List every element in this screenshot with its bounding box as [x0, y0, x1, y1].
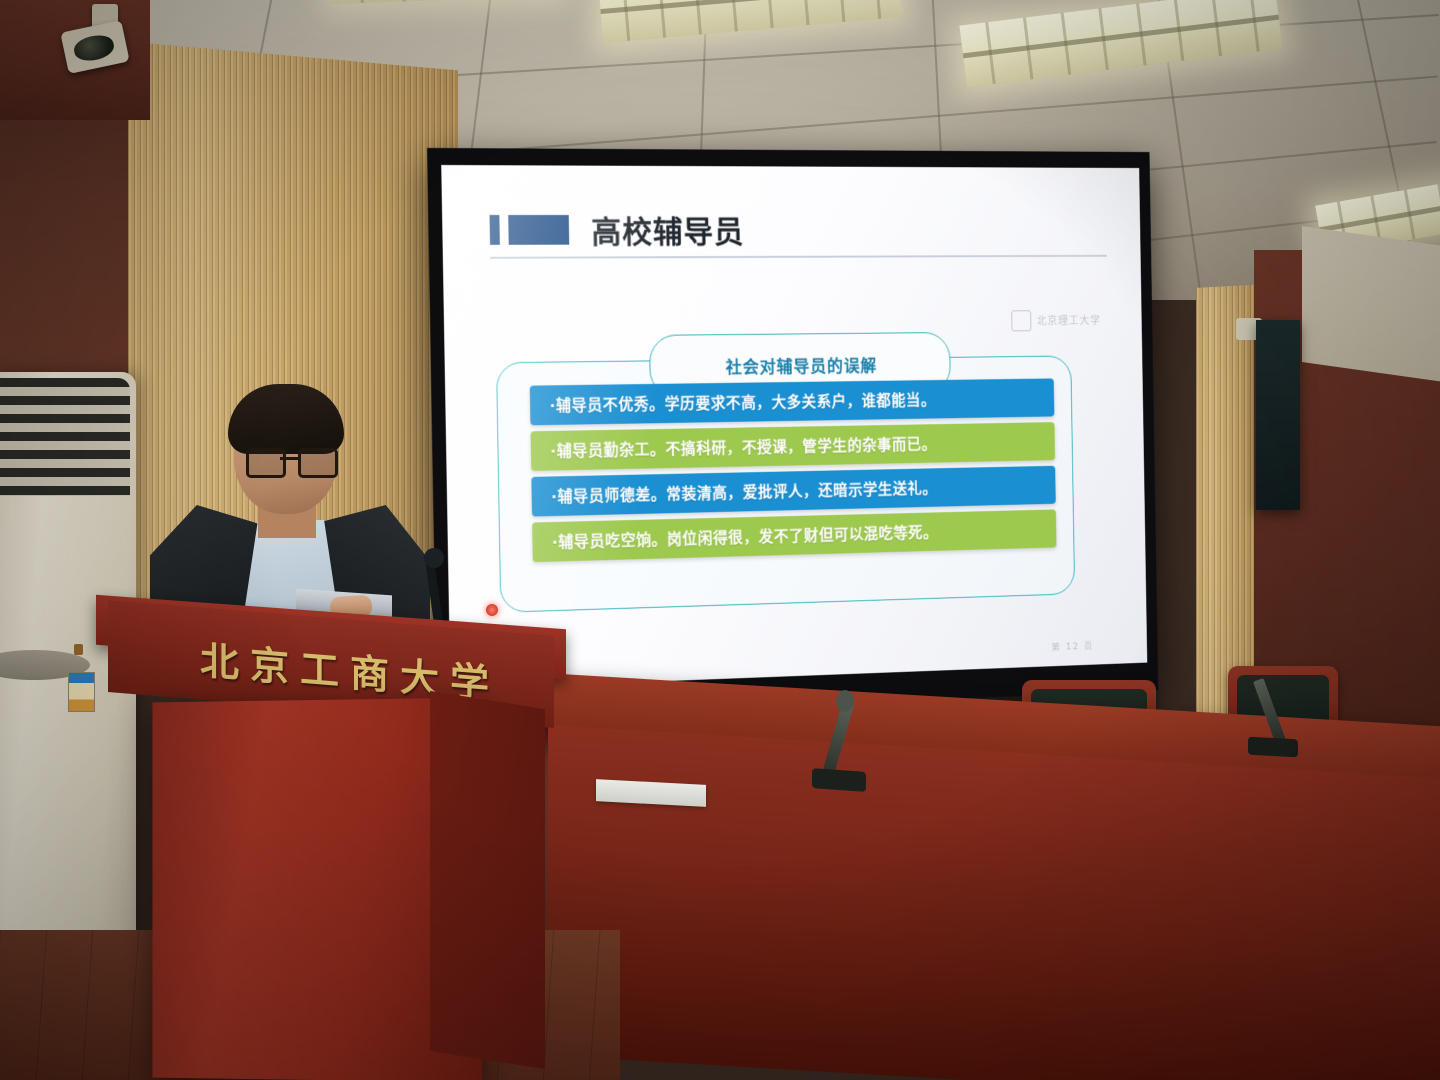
university-logo: 北京理工大学 — [1011, 310, 1101, 332]
lecture-hall-photo: 高校辅导员 北京理工大学 社会对辅导员的误解 ·辅导员不优秀。学历要求不高，大多… — [0, 0, 1440, 1080]
footer-right-text: 第 12 页 — [1052, 639, 1094, 653]
energy-label-sticker — [68, 672, 95, 712]
seal-icon — [1011, 310, 1031, 331]
bullet-bar: ·辅导员勤杂工。不搞科研，不授课，管学生的杂事而已。 — [531, 422, 1056, 471]
beige-wall-right — [1302, 226, 1440, 382]
podium-side-panel — [430, 691, 545, 1069]
bullet-text: ·辅导员师德差。常装清高，爱批评人，还暗示学生送礼。 — [551, 477, 937, 507]
podium-indicator-light — [486, 604, 498, 616]
bullet-bar: ·辅导员师德差。常装清高，爱批评人，还暗示学生送礼。 — [531, 466, 1055, 517]
desk-microphone-base — [1248, 737, 1298, 758]
slide-header-rule — [490, 255, 1107, 259]
accent-bar-small — [490, 214, 500, 244]
presentation-slide: 高校辅导员 北京理工大学 社会对辅导员的误解 ·辅导员不优秀。学历要求不高，大多… — [441, 165, 1147, 689]
slide-title: 高校辅导员 — [591, 207, 745, 251]
bullet-bar-list: ·辅导员不优秀。学历要求不高，大多关系户，谁都能当。 ·辅导员勤杂工。不搞科研，… — [530, 378, 1057, 568]
caption-text: 社会对辅导员的误解 — [725, 351, 877, 377]
bullet-text: ·辅导员勤杂工。不搞科研，不授课，管学生的杂事而已。 — [550, 433, 936, 462]
desk-microphone-base — [812, 768, 866, 792]
podium-microphone-head — [424, 548, 444, 568]
logo-text: 北京理工大学 — [1036, 313, 1101, 329]
bullet-bar: ·辅导员不优秀。学历要求不高，大多关系户，谁都能当。 — [530, 378, 1055, 425]
bullet-text: ·辅导员吃空饷。岗位闲得很，发不了财但可以混吃等死。 — [552, 521, 938, 553]
slide-footer: 学术报告厅 第 12 页 — [509, 639, 1094, 673]
conference-table-front — [548, 725, 1440, 1080]
accent-bar-large — [508, 214, 569, 244]
air-conditioner-knob[interactable] — [74, 644, 83, 655]
eyeglasses-icon — [246, 448, 332, 472]
air-conditioner-vents — [0, 378, 130, 496]
bullet-text: ·辅导员不优秀。学历要求不高，大多关系户，谁都能当。 — [549, 389, 935, 416]
bullet-bar: ·辅导员吃空饷。岗位闲得很，发不了财但可以混吃等死。 — [532, 509, 1056, 562]
desk-microphone-head — [836, 690, 854, 712]
slide-header: 高校辅导员 — [489, 207, 744, 252]
wall-speaker — [1256, 320, 1300, 510]
